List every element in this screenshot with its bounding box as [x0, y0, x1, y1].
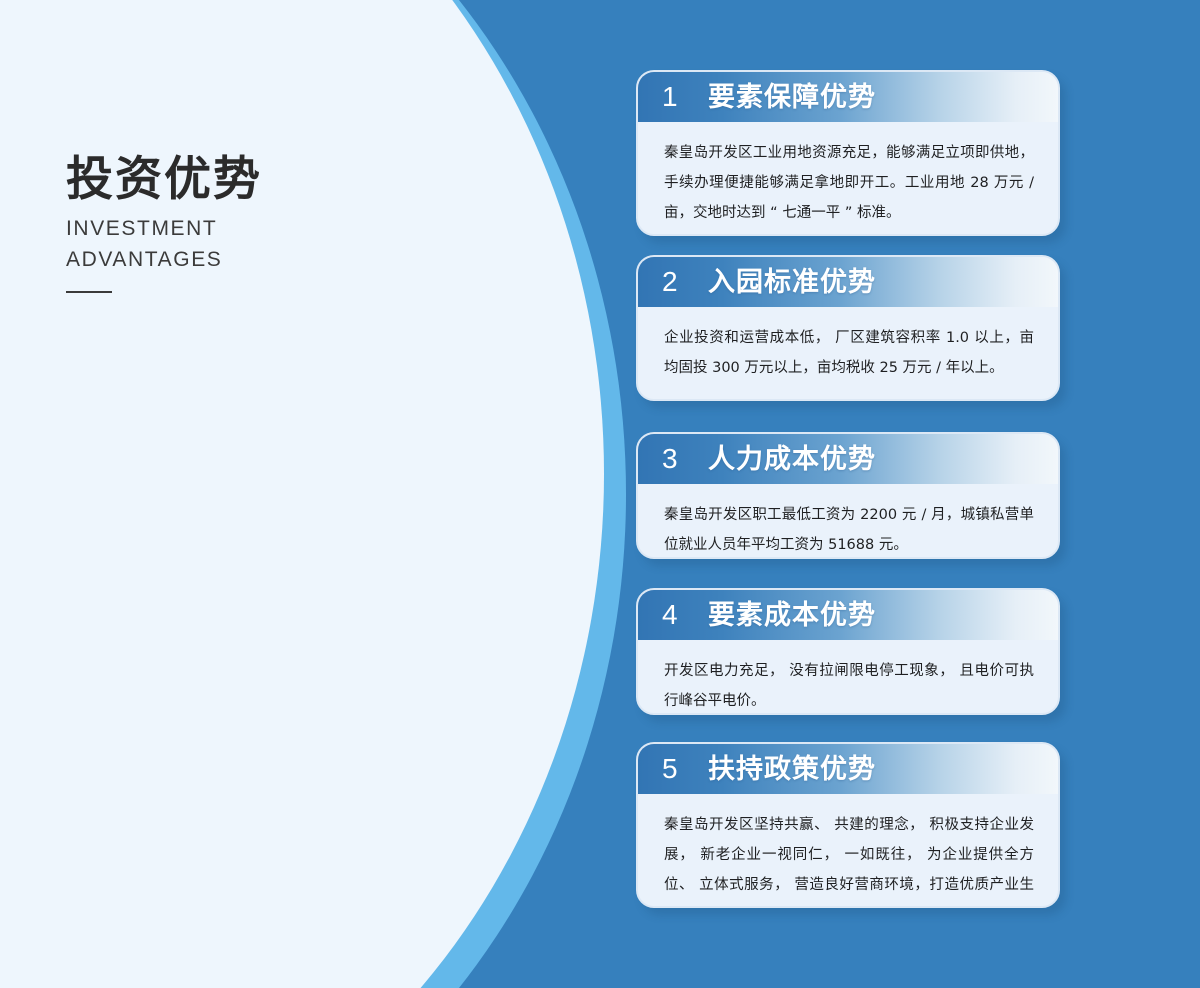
- advantage-card-number: 2: [662, 268, 708, 296]
- photo-arc-disc: [0, 0, 604, 988]
- page-title-block: 投资优势 INVESTMENT ADVANTAGES: [66, 152, 262, 293]
- advantage-card-title: 要素成本优势: [708, 602, 876, 629]
- advantage-card-header: 4 要素成本优势: [638, 590, 1058, 640]
- advantage-card-number: 1: [662, 83, 708, 111]
- advantage-card-body: 秦皇岛开发区坚持共赢、 共建的理念， 积极支持企业发展， 新老企业一视同仁， 一…: [638, 794, 1058, 908]
- advantage-card-body: 开发区电力充足， 没有拉闸限电停工现象， 且电价可执行峰谷平电价。: [638, 640, 1058, 715]
- advantage-card-number: 5: [662, 755, 708, 783]
- page-title-cn: 投资优势: [66, 152, 262, 207]
- advantage-card-title: 要素保障优势: [708, 84, 876, 111]
- advantage-card-header: 5 扶持政策优势: [638, 744, 1058, 794]
- advantage-card-body: 企业投资和运营成本低， 厂区建筑容积率 1.0 以上，亩均固投 300 万元以上…: [638, 307, 1058, 399]
- advantage-card-number: 3: [662, 445, 708, 473]
- advantage-card-title: 人力成本优势: [708, 446, 876, 473]
- page-title-en: INVESTMENT ADVANTAGES: [66, 214, 262, 275]
- advantage-card-body: 秦皇岛开发区职工最低工资为 2200 元 / 月，城镇私营单位就业人员年平均工资…: [638, 484, 1058, 559]
- advantage-card[interactable]: 4 要素成本优势 开发区电力充足， 没有拉闸限电停工现象， 且电价可执行峰谷平电…: [636, 588, 1060, 715]
- advantage-card-list: 1 要素保障优势 秦皇岛开发区工业用地资源充足，能够满足立项即供地，手续办理便捷…: [636, 0, 1066, 988]
- advantage-card[interactable]: 2 入园标准优势 企业投资和运营成本低， 厂区建筑容积率 1.0 以上，亩均固投…: [636, 255, 1060, 401]
- advantage-card-body: 秦皇岛开发区工业用地资源充足，能够满足立项即供地，手续办理便捷能够满足拿地即开工…: [638, 122, 1058, 236]
- advantage-card-header: 1 要素保障优势: [638, 72, 1058, 122]
- advantage-card-header: 3 人力成本优势: [638, 434, 1058, 484]
- title-underline-rule: [66, 291, 112, 293]
- advantage-card-number: 4: [662, 601, 708, 629]
- advantage-card-title: 入园标准优势: [708, 269, 876, 296]
- advantage-card[interactable]: 1 要素保障优势 秦皇岛开发区工业用地资源充足，能够满足立项即供地，手续办理便捷…: [636, 70, 1060, 236]
- page-title-en-line2: ADVANTAGES: [66, 245, 262, 276]
- advantage-card-title: 扶持政策优势: [708, 756, 876, 783]
- advantage-card[interactable]: 5 扶持政策优势 秦皇岛开发区坚持共赢、 共建的理念， 积极支持企业发展， 新老…: [636, 742, 1060, 908]
- investment-advantages-poster: 投资优势 INVESTMENT ADVANTAGES 1 要素保障优势 秦皇岛开…: [0, 0, 1200, 988]
- page-title-en-line1: INVESTMENT: [66, 214, 262, 245]
- advantage-card[interactable]: 3 人力成本优势 秦皇岛开发区职工最低工资为 2200 元 / 月，城镇私营单位…: [636, 432, 1060, 559]
- advantage-card-header: 2 入园标准优势: [638, 257, 1058, 307]
